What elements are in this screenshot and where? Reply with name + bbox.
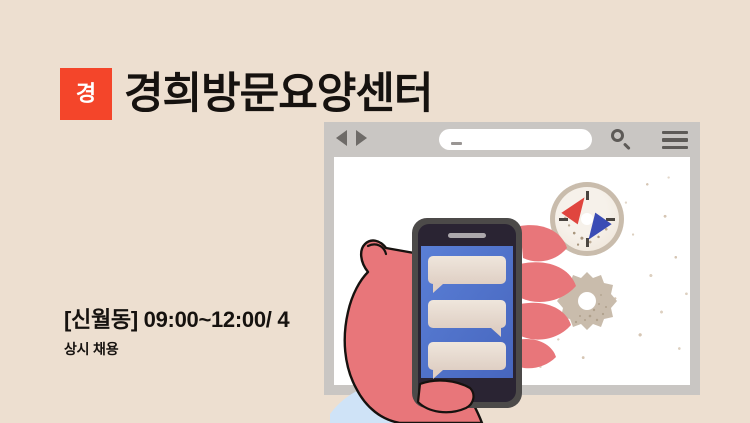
compass-tick-west — [559, 218, 568, 221]
gear-icon — [556, 270, 618, 332]
listing-subline: 상시 채용 — [64, 339, 118, 359]
burger-line — [662, 146, 688, 149]
hamburger-menu-icon[interactable] — [662, 131, 688, 149]
speckle-texture — [334, 157, 690, 385]
forward-triangle-icon[interactable] — [356, 130, 367, 146]
compass-tick-east — [606, 218, 615, 221]
poster-canvas: 경 경희방문요양센터 [신월동] 09:00~12:00/ 4 상시 채용 — [0, 0, 750, 423]
browser-chrome-bar — [324, 122, 700, 157]
browser-page-area — [334, 157, 690, 385]
magnifier-handle — [623, 142, 631, 150]
text-caret — [451, 142, 462, 145]
browser-window-illustration — [324, 122, 700, 395]
listing-headline: [신월동] 09:00~12:00/ 4 — [64, 302, 289, 334]
burger-line — [662, 138, 688, 141]
back-triangle-icon[interactable] — [336, 130, 347, 146]
compass-icon — [550, 182, 624, 256]
burger-line — [662, 131, 688, 134]
search-magnifier-icon[interactable] — [611, 129, 633, 151]
compass-hub — [581, 213, 593, 225]
brand-logo-char: 경 — [76, 83, 96, 105]
magnifier-lens — [611, 129, 624, 142]
browser-nav-arrows — [336, 130, 367, 146]
page-title: 경희방문요양센터 — [124, 68, 432, 120]
brand-logo-badge: 경 — [60, 68, 112, 120]
address-bar-input[interactable] — [439, 129, 592, 150]
